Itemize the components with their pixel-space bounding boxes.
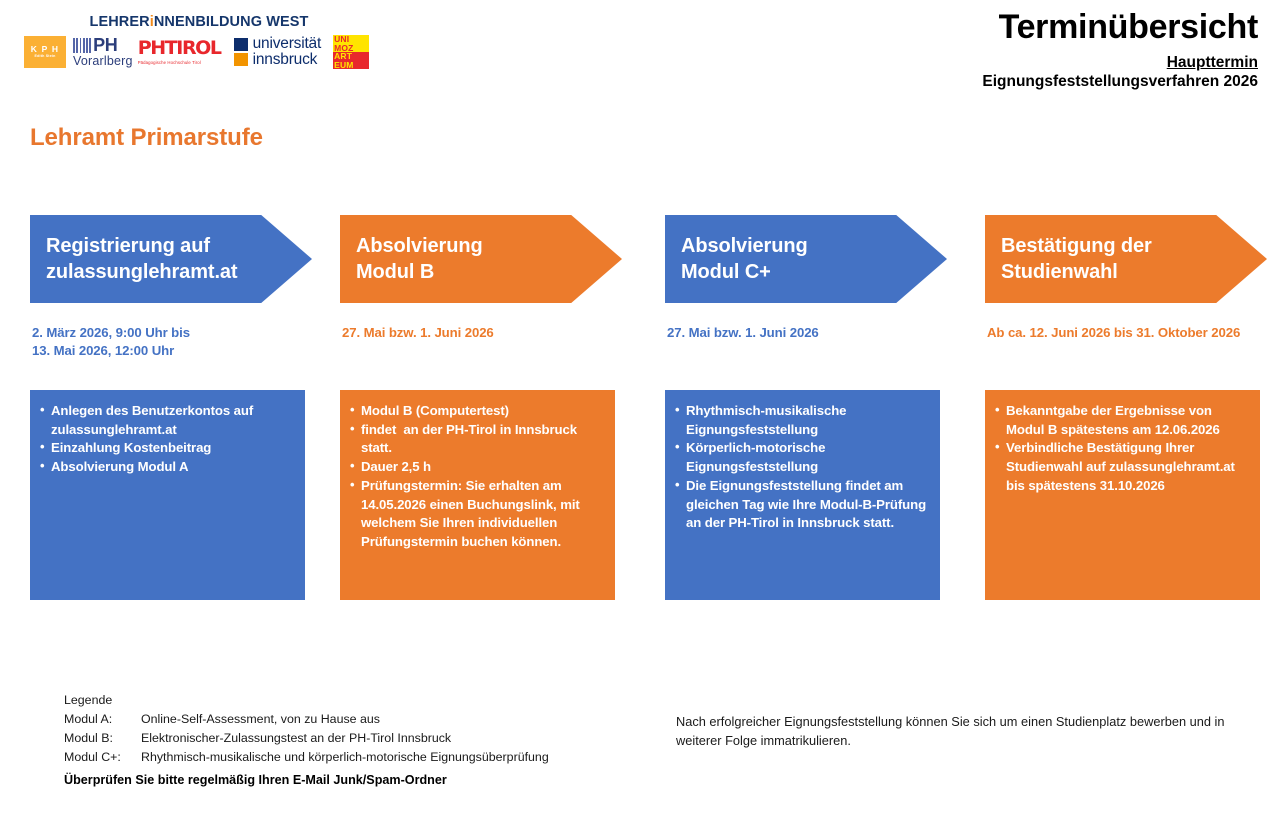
- step-4-arrow: Bestätigung der Studienwahl: [985, 215, 1267, 303]
- step-3-date: 27. Mai bzw. 1. Juni 2026: [667, 324, 943, 342]
- legend-value: Online-Self-Assessment, von zu Hause aus: [141, 710, 380, 729]
- step-1-title: Registrierung auf zulassunglehramt.at: [46, 233, 237, 286]
- step-1-list: Anlegen des Benutzerkontos auf zulassung…: [40, 402, 295, 477]
- list-item: Einzahlung Kostenbeitrag: [40, 439, 295, 458]
- list-item: Körperlich-motorische Eignungsfeststellu…: [675, 439, 930, 476]
- list-item: Verbindliche Bestätigung Ihrer Studienwa…: [995, 439, 1250, 495]
- list-item: Die Eignungsfeststellung findet am gleic…: [675, 477, 930, 533]
- legend-row: Modul A: Online-Self-Assessment, von zu …: [64, 710, 549, 729]
- step-4-list: Bekanntgabe der Ergebnisse von Modul B s…: [995, 402, 1250, 496]
- list-item: Modul B (Computertest): [350, 402, 605, 421]
- legend-value: Rhythmisch-musikalische und körperlich-m…: [141, 748, 549, 767]
- list-item: Rhythmisch-musikalische Eignungsfeststel…: [675, 402, 930, 439]
- step-3-title: Absolvierung Modul C+: [681, 233, 808, 286]
- legend-row: Modul B: Elektronischer-Zulassungstest a…: [64, 729, 549, 748]
- next-steps-note: Nach erfolgreicher Eignungsfeststellung …: [676, 713, 1236, 750]
- list-item: Dauer 2,5 h: [350, 458, 605, 477]
- step-2-date: 27. Mai bzw. 1. Juni 2026: [342, 324, 618, 342]
- list-item: Absolvierung Modul A: [40, 458, 295, 477]
- list-item: findet an der PH-Tirol in Innsbruck stat…: [350, 421, 605, 458]
- step-4-details-box: Bekanntgabe der Ergebnisse von Modul B s…: [985, 390, 1260, 600]
- list-item: Prüfungstermin: Sie erhalten am 14.05.20…: [350, 477, 605, 552]
- list-item: Bekanntgabe der Ergebnisse von Modul B s…: [995, 402, 1250, 439]
- legend-key: Modul C+:: [64, 748, 141, 767]
- step-2-details-box: Modul B (Computertest) findet an der PH-…: [340, 390, 615, 600]
- step-2-arrow: Absolvierung Modul B: [340, 215, 622, 303]
- legend-value: Elektronischer-Zulassungstest an der PH-…: [141, 729, 451, 748]
- legend: Legende Modul A: Online-Self-Assessment,…: [64, 691, 549, 766]
- spam-folder-note: Überprüfen Sie bitte regelmäßig Ihren E-…: [64, 773, 447, 787]
- step-3-arrow: Absolvierung Modul C+: [665, 215, 947, 303]
- step-3-list: Rhythmisch-musikalische Eignungsfeststel…: [675, 402, 930, 533]
- list-item: Anlegen des Benutzerkontos auf zulassung…: [40, 402, 295, 439]
- step-2-title: Absolvierung Modul B: [356, 233, 483, 286]
- step-1-details-box: Anlegen des Benutzerkontos auf zulassung…: [30, 390, 305, 600]
- step-3-details-box: Rhythmisch-musikalische Eignungsfeststel…: [665, 390, 940, 600]
- legend-key: Modul A:: [64, 710, 141, 729]
- step-4-title: Bestätigung der Studienwahl: [1001, 233, 1152, 286]
- legend-key: Modul B:: [64, 729, 141, 748]
- step-4-date: Ab ca. 12. Juni 2026 bis 31. Oktober 202…: [987, 324, 1263, 342]
- step-1-arrow: Registrierung auf zulassunglehramt.at: [30, 215, 312, 303]
- legend-title: Legende: [64, 691, 549, 710]
- legend-row: Modul C+: Rhythmisch-musikalische und kö…: [64, 748, 549, 767]
- step-2-list: Modul B (Computertest) findet an der PH-…: [350, 402, 605, 552]
- step-1-date: 2. März 2026, 9:00 Uhr bis 13. Mai 2026,…: [32, 324, 308, 360]
- slide-canvas: LEHRERiNNENBILDUNG WEST K P H Edith Stei…: [0, 0, 1280, 813]
